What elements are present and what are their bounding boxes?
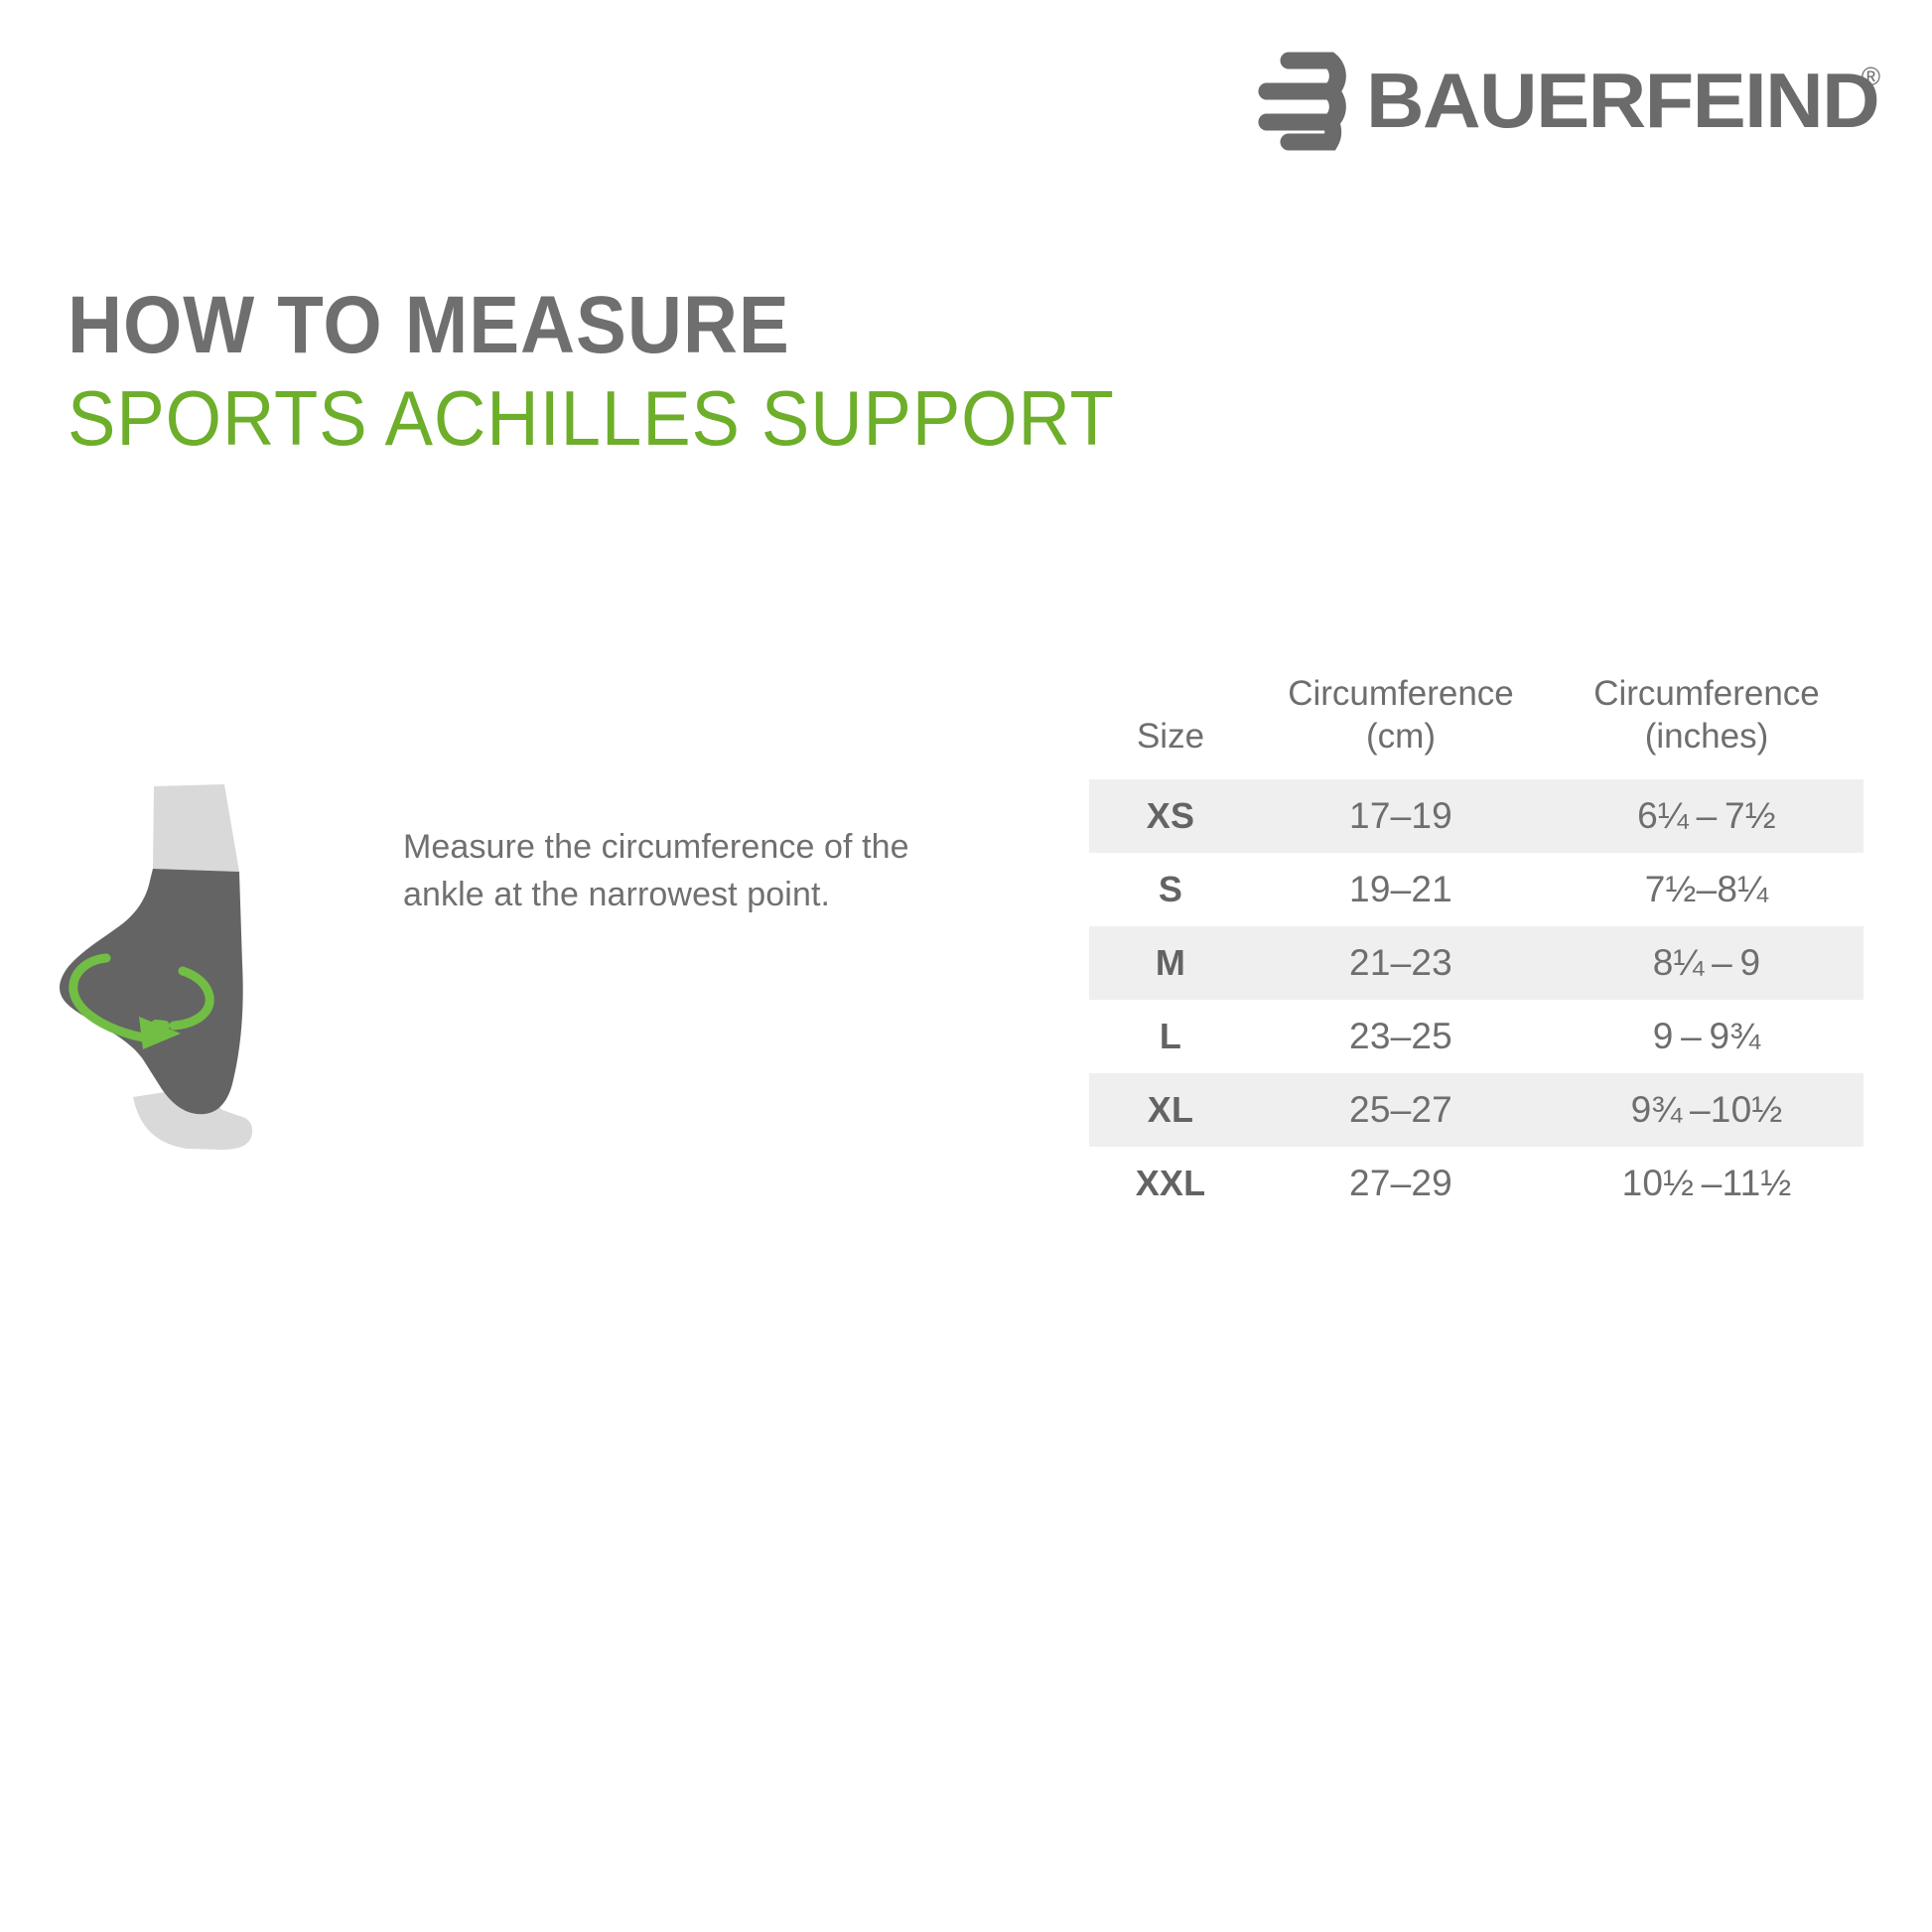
cell-size: XS bbox=[1089, 779, 1252, 853]
instruction-text: Measure the circumference of the ankle a… bbox=[403, 823, 999, 919]
bauerfeind-b-mark-icon bbox=[1243, 50, 1360, 153]
column-header-in-line2: (inches) bbox=[1645, 717, 1768, 756]
column-header-circumference-inches: Circumference (inches) bbox=[1550, 673, 1863, 779]
table-body: XS17–196¼ – 7½S19–217½–8¼M21–238¼ – 9L23… bbox=[1089, 779, 1863, 1220]
cell-circumference-cm: 19–21 bbox=[1252, 853, 1550, 926]
table-row: L23–259 – 9¾ bbox=[1089, 1000, 1863, 1073]
page-subtitle: SPORTS ACHILLES SUPPORT bbox=[68, 379, 1115, 457]
column-header-cm-line1: Circumference bbox=[1288, 674, 1514, 713]
cell-size: XXL bbox=[1089, 1147, 1252, 1220]
table-row: XS17–196¼ – 7½ bbox=[1089, 779, 1863, 853]
cell-circumference-inches: 7½–8¼ bbox=[1550, 853, 1863, 926]
cell-circumference-cm: 17–19 bbox=[1252, 779, 1550, 853]
table-header-row: Size Circumference (cm) Circumference (i… bbox=[1089, 673, 1863, 779]
table-row: M21–238¼ – 9 bbox=[1089, 926, 1863, 1000]
cell-circumference-inches: 6¼ – 7½ bbox=[1550, 779, 1863, 853]
cell-circumference-inches: 10½ –11½ bbox=[1550, 1147, 1863, 1220]
cell-size: M bbox=[1089, 926, 1252, 1000]
column-header-circumference-cm: Circumference (cm) bbox=[1252, 673, 1550, 779]
ankle-sleeve-shape bbox=[60, 869, 243, 1114]
table-row: XXL27–2910½ –11½ bbox=[1089, 1147, 1863, 1220]
table-row: S19–217½–8¼ bbox=[1089, 853, 1863, 926]
cell-size: L bbox=[1089, 1000, 1252, 1073]
table-header: Size Circumference (cm) Circumference (i… bbox=[1089, 673, 1863, 779]
bauerfeind-wordmark: BAUERFEIND bbox=[1366, 62, 1878, 139]
size-chart-table: Size Circumference (cm) Circumference (i… bbox=[1089, 673, 1863, 1220]
column-header-in-line1: Circumference bbox=[1593, 674, 1820, 713]
cell-circumference-cm: 23–25 bbox=[1252, 1000, 1550, 1073]
cell-circumference-inches: 9¾ –10½ bbox=[1550, 1073, 1863, 1147]
leg-shape bbox=[153, 784, 239, 872]
column-header-size-label: Size bbox=[1137, 717, 1204, 756]
cell-circumference-inches: 9 – 9¾ bbox=[1550, 1000, 1863, 1073]
column-header-cm-line2: (cm) bbox=[1366, 717, 1436, 756]
cell-size: XL bbox=[1089, 1073, 1252, 1147]
cell-circumference-cm: 21–23 bbox=[1252, 926, 1550, 1000]
table-row: XL25–279¾ –10½ bbox=[1089, 1073, 1863, 1147]
cell-circumference-cm: 27–29 bbox=[1252, 1147, 1550, 1220]
bauerfeind-logo: BAUERFEIND ® bbox=[1243, 50, 1880, 153]
column-header-size: Size bbox=[1089, 673, 1252, 779]
cell-circumference-inches: 8¼ – 9 bbox=[1550, 926, 1863, 1000]
heading-block: HOW TO MEASURE SPORTS ACHILLES SUPPORT bbox=[68, 286, 1193, 457]
page-title: HOW TO MEASURE bbox=[68, 286, 1115, 365]
cell-circumference-cm: 25–27 bbox=[1252, 1073, 1550, 1147]
cell-size: S bbox=[1089, 853, 1252, 926]
ankle-measurement-illustration bbox=[48, 757, 316, 1173]
